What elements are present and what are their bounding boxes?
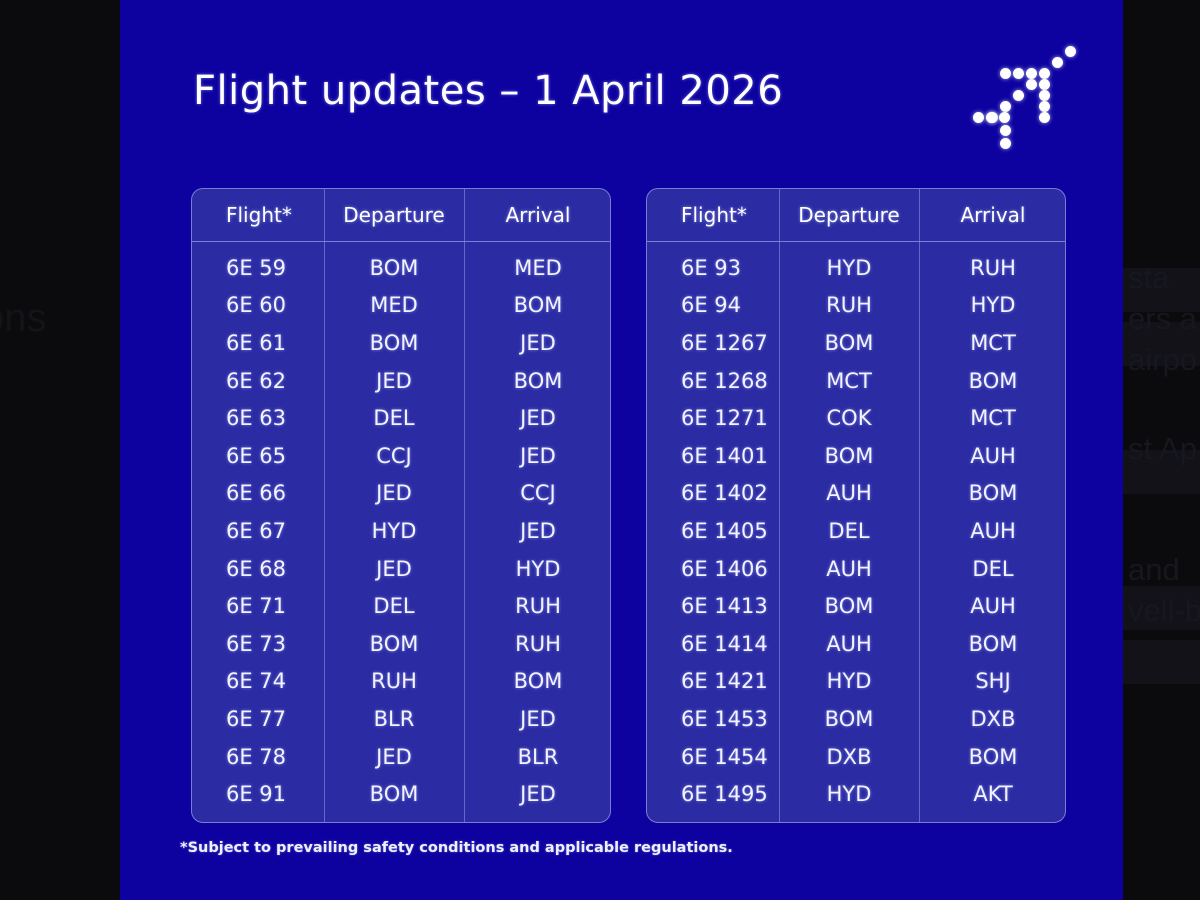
logo-dot <box>1000 101 1011 112</box>
background-fragment: st Ap <box>1128 433 1200 464</box>
cell-flight-number: 6E 67 <box>192 512 324 550</box>
cell-arrival: HYD <box>464 550 611 588</box>
indigo-dotted-plane-logo <box>965 38 1085 148</box>
cell-departure: BOM <box>779 437 919 475</box>
background-fragment: vell-b <box>1128 595 1200 626</box>
cell-arrival: JED <box>464 437 611 475</box>
logo-dot <box>1039 90 1050 101</box>
cell-arrival: MED <box>464 241 611 287</box>
cell-flight-number: 6E 94 <box>647 287 779 325</box>
cell-arrival: AUH <box>919 587 1066 625</box>
cell-flight-number: 6E 1421 <box>647 663 779 701</box>
background-text-right: sta ers a airpo st Ap and vell-b <box>1128 262 1200 626</box>
page-title: Flight updates – 1 April 2026 <box>193 68 783 114</box>
cell-departure: BOM <box>779 587 919 625</box>
flight-table-right: Flight* Departure Arrival 6E 93HYDRUH6E … <box>647 189 1066 813</box>
screenshot-root: ons sta ers a airpo st Ap and vell-b Fli… <box>0 0 1200 900</box>
column-header-flight: Flight* <box>192 189 324 241</box>
cell-departure: AUH <box>779 475 919 513</box>
cell-arrival: HYD <box>919 287 1066 325</box>
cell-flight-number: 6E 77 <box>192 700 324 738</box>
cell-arrival: JED <box>464 775 611 813</box>
column-header-departure: Departure <box>779 189 919 241</box>
cell-flight-number: 6E 78 <box>192 738 324 776</box>
cell-departure: CCJ <box>324 437 464 475</box>
table-row: 6E 65CCJJED <box>192 437 611 475</box>
table-row: 6E 60MEDBOM <box>192 287 611 325</box>
table-row: 6E 93HYDRUH <box>647 241 1066 287</box>
cell-departure: JED <box>324 475 464 513</box>
cell-departure: HYD <box>779 663 919 701</box>
table-row: 6E 77BLRJED <box>192 700 611 738</box>
cell-arrival: JED <box>464 324 611 362</box>
cell-flight-number: 6E 1406 <box>647 550 779 588</box>
table-row: 6E 61BOMJED <box>192 324 611 362</box>
logo-dot <box>1065 46 1076 57</box>
table-row: 6E 1413BOMAUH <box>647 587 1066 625</box>
background-fragment: and <box>1128 554 1200 585</box>
column-header-arrival: Arrival <box>464 189 611 241</box>
table-row: 6E 1421HYDSHJ <box>647 663 1066 701</box>
cell-arrival: RUH <box>464 625 611 663</box>
cell-arrival: MCT <box>919 399 1066 437</box>
cell-departure: AUH <box>779 625 919 663</box>
cell-arrival: BOM <box>464 287 611 325</box>
cell-flight-number: 6E 61 <box>192 324 324 362</box>
table-row: 6E 59BOMMED <box>192 241 611 287</box>
table-row: 6E 1401BOMAUH <box>647 437 1066 475</box>
flight-updates-slide: Flight updates – 1 April 2026 Flight* De… <box>120 0 1123 900</box>
cell-flight-number: 6E 1267 <box>647 324 779 362</box>
table-body-left: 6E 59BOMMED6E 60MEDBOM6E 61BOMJED6E 62JE… <box>192 241 611 813</box>
cell-flight-number: 6E 1454 <box>647 738 779 776</box>
footnote: *Subject to prevailing safety conditions… <box>180 840 733 856</box>
table-row: 6E 94RUHHYD <box>647 287 1066 325</box>
cell-departure: DEL <box>779 512 919 550</box>
cell-departure: RUH <box>324 663 464 701</box>
cell-arrival: JED <box>464 700 611 738</box>
logo-dot <box>1039 68 1050 79</box>
table-row: 6E 63DELJED <box>192 399 611 437</box>
background-band <box>1123 640 1200 684</box>
cell-arrival: BOM <box>464 663 611 701</box>
cell-departure: JED <box>324 550 464 588</box>
cell-arrival: CCJ <box>464 475 611 513</box>
logo-dot <box>1039 79 1050 90</box>
logo-dot <box>999 112 1010 123</box>
cell-arrival: BOM <box>464 362 611 400</box>
logo-dot <box>1013 68 1024 79</box>
cell-flight-number: 6E 1271 <box>647 399 779 437</box>
cell-arrival: MCT <box>919 324 1066 362</box>
table-row: 6E 1414AUHBOM <box>647 625 1066 663</box>
cell-departure: BOM <box>324 775 464 813</box>
background-fragment: ers a <box>1128 303 1200 334</box>
table-row: 6E 1271COKMCT <box>647 399 1066 437</box>
cell-departure: DEL <box>324 587 464 625</box>
cell-departure: BOM <box>324 241 464 287</box>
cell-departure: BOM <box>779 700 919 738</box>
cell-departure: COK <box>779 399 919 437</box>
cell-departure: JED <box>324 738 464 776</box>
cell-arrival: BLR <box>464 738 611 776</box>
cell-flight-number: 6E 1402 <box>647 475 779 513</box>
background-text-left: ons <box>0 296 47 341</box>
table-row: 6E 1406AUHDEL <box>647 550 1066 588</box>
cell-flight-number: 6E 1414 <box>647 625 779 663</box>
cell-flight-number: 6E 59 <box>192 241 324 287</box>
column-header-flight: Flight* <box>647 189 779 241</box>
cell-flight-number: 6E 1405 <box>647 512 779 550</box>
cell-arrival: DXB <box>919 700 1066 738</box>
table-row: 6E 1454DXBBOM <box>647 738 1066 776</box>
cell-departure: HYD <box>779 241 919 287</box>
background-fragment: airpo <box>1128 344 1200 375</box>
cell-flight-number: 6E 62 <box>192 362 324 400</box>
cell-arrival: BOM <box>919 625 1066 663</box>
logo-dot <box>1039 101 1050 112</box>
cell-departure: HYD <box>324 512 464 550</box>
cell-flight-number: 6E 1413 <box>647 587 779 625</box>
cell-departure: BOM <box>324 324 464 362</box>
cell-departure: JED <box>324 362 464 400</box>
table-row: 6E 1453BOMDXB <box>647 700 1066 738</box>
table-header-row: Flight* Departure Arrival <box>647 189 1066 241</box>
table-row: 6E 62JEDBOM <box>192 362 611 400</box>
cell-flight-number: 6E 73 <box>192 625 324 663</box>
cell-departure: MCT <box>779 362 919 400</box>
cell-arrival: JED <box>464 512 611 550</box>
cell-departure: DEL <box>324 399 464 437</box>
table-row: 6E 1267BOMMCT <box>647 324 1066 362</box>
cell-arrival: BOM <box>919 475 1066 513</box>
table-row: 6E 1495HYDAKT <box>647 775 1066 813</box>
cell-departure: AUH <box>779 550 919 588</box>
background-fragment: sta <box>1128 262 1200 293</box>
flight-table-card-right: Flight* Departure Arrival 6E 93HYDRUH6E … <box>646 188 1066 823</box>
cell-departure: BOM <box>779 324 919 362</box>
cell-flight-number: 6E 74 <box>192 663 324 701</box>
logo-dot <box>1026 79 1037 90</box>
table-row: 6E 1405DELAUH <box>647 512 1066 550</box>
cell-flight-number: 6E 93 <box>647 241 779 287</box>
logo-dot <box>1026 68 1037 79</box>
cell-flight-number: 6E 60 <box>192 287 324 325</box>
cell-departure: MED <box>324 287 464 325</box>
cell-flight-number: 6E 68 <box>192 550 324 588</box>
table-row: 6E 74RUHBOM <box>192 663 611 701</box>
cell-arrival: BOM <box>919 362 1066 400</box>
cell-arrival: RUH <box>919 241 1066 287</box>
logo-dot <box>973 112 984 123</box>
cell-arrival: SHJ <box>919 663 1066 701</box>
cell-departure: DXB <box>779 738 919 776</box>
logo-dot <box>1039 112 1050 123</box>
logo-dot <box>1000 138 1011 149</box>
table-row: 6E 1402AUHBOM <box>647 475 1066 513</box>
cell-arrival: AUH <box>919 512 1066 550</box>
cell-arrival: DEL <box>919 550 1066 588</box>
column-header-departure: Departure <box>324 189 464 241</box>
table-row: 6E 78JEDBLR <box>192 738 611 776</box>
flight-table-card-left: Flight* Departure Arrival 6E 59BOMMED6E … <box>191 188 611 823</box>
cell-flight-number: 6E 91 <box>192 775 324 813</box>
cell-flight-number: 6E 63 <box>192 399 324 437</box>
cell-arrival: AUH <box>919 437 1066 475</box>
cell-arrival: JED <box>464 399 611 437</box>
cell-arrival: RUH <box>464 587 611 625</box>
table-header-row: Flight* Departure Arrival <box>192 189 611 241</box>
flight-table-left: Flight* Departure Arrival 6E 59BOMMED6E … <box>192 189 611 813</box>
cell-departure: HYD <box>779 775 919 813</box>
table-row: 6E 67HYDJED <box>192 512 611 550</box>
table-row: 6E 1268MCTBOM <box>647 362 1066 400</box>
table-row: 6E 68JEDHYD <box>192 550 611 588</box>
cell-flight-number: 6E 71 <box>192 587 324 625</box>
table-row: 6E 73BOMRUH <box>192 625 611 663</box>
cell-departure: BOM <box>324 625 464 663</box>
logo-dot <box>1000 68 1011 79</box>
cell-departure: RUH <box>779 287 919 325</box>
cell-flight-number: 6E 1495 <box>647 775 779 813</box>
table-row: 6E 91BOMJED <box>192 775 611 813</box>
cell-flight-number: 6E 65 <box>192 437 324 475</box>
cell-arrival: BOM <box>919 738 1066 776</box>
cell-arrival: AKT <box>919 775 1066 813</box>
logo-dot <box>986 112 997 123</box>
cell-flight-number: 6E 1453 <box>647 700 779 738</box>
logo-dot <box>1013 90 1024 101</box>
table-row: 6E 66JEDCCJ <box>192 475 611 513</box>
logo-dot <box>1052 57 1063 68</box>
cell-departure: BLR <box>324 700 464 738</box>
cell-flight-number: 6E 1401 <box>647 437 779 475</box>
table-body-right: 6E 93HYDRUH6E 94RUHHYD6E 1267BOMMCT6E 12… <box>647 241 1066 813</box>
column-header-arrival: Arrival <box>919 189 1066 241</box>
cell-flight-number: 6E 1268 <box>647 362 779 400</box>
logo-dot <box>1000 125 1011 136</box>
table-row: 6E 71DELRUH <box>192 587 611 625</box>
cell-flight-number: 6E 66 <box>192 475 324 513</box>
